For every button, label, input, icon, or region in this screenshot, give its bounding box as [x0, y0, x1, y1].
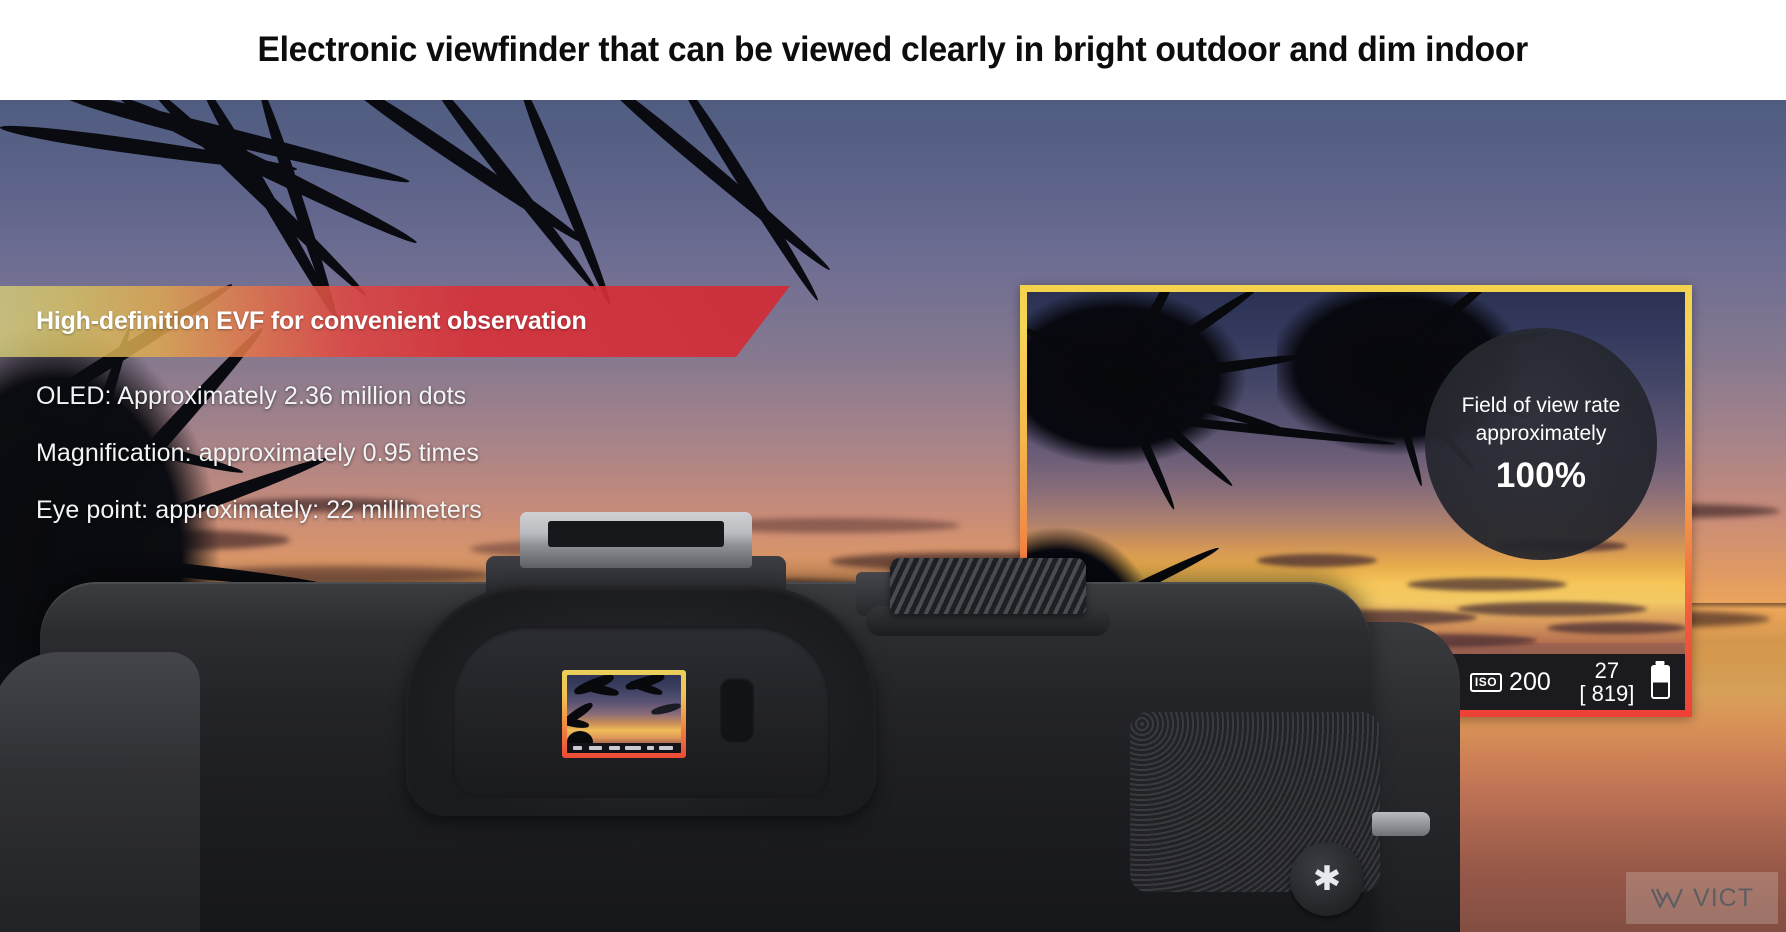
spec-item-oled: OLED: Approximately 2.36 million dots — [36, 382, 676, 411]
slide-root: Electronic viewfinder that can be viewed… — [0, 0, 1786, 932]
ae-lock-button[interactable]: ✱ — [1290, 842, 1364, 916]
viewfinder-info-bar — [567, 743, 681, 753]
fov-line-1: Field of view rate — [1462, 392, 1621, 419]
camera-body-photo: ✱ — [0, 512, 1786, 932]
vict-logo-icon — [1650, 885, 1684, 911]
page-title: Electronic viewfinder that can be viewed… — [258, 30, 1528, 70]
spec-item-magnification: Magnification: approximately 0.95 times — [36, 439, 676, 468]
viewfinder-scene — [567, 675, 681, 753]
hero-photo-stage: High-definition EVF for convenient obser… — [0, 100, 1786, 932]
eyecup-inner-rim — [452, 626, 830, 798]
fov-line-2: approximately — [1476, 420, 1607, 447]
slide-title-bar: Electronic viewfinder that can be viewed… — [0, 0, 1786, 100]
headline-banner: High-definition EVF for convenient obser… — [0, 286, 790, 357]
main-control-dial[interactable] — [890, 558, 1086, 614]
asterisk-icon: ✱ — [1313, 862, 1342, 896]
watermark: VICT — [1626, 872, 1778, 924]
camera-left-side — [0, 652, 200, 932]
fov-value: 100% — [1496, 456, 1586, 496]
port-cover-tab[interactable] — [1372, 812, 1430, 836]
viewfinder-window — [562, 670, 686, 758]
eye-sensor — [720, 678, 754, 742]
banner-headline: High-definition EVF for convenient obser… — [36, 307, 587, 336]
hot-shoe — [520, 512, 752, 568]
viewfinder-eyecup — [406, 586, 876, 816]
watermark-text: VICT — [1693, 884, 1754, 913]
